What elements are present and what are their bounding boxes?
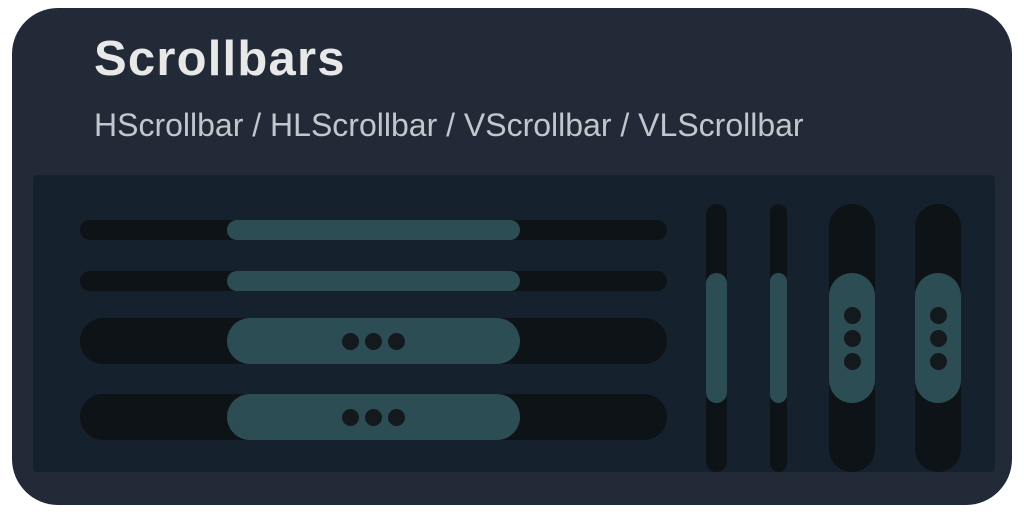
hscrollbar-thin-1[interactable] <box>80 220 667 240</box>
scrollbar-thumb[interactable] <box>829 273 875 403</box>
grip-dot <box>342 409 359 426</box>
grip-dots-icon <box>915 273 961 403</box>
grip-dot <box>365 333 382 350</box>
scrollbar-demo-panel <box>33 175 995 472</box>
scrollbar-thumb[interactable] <box>227 271 520 291</box>
hscrollbar-thick-2[interactable] <box>80 394 667 440</box>
scrollbar-thumb[interactable] <box>770 273 787 403</box>
screenshot-stage: Scrollbars HScrollbar / HLScrollbar / VS… <box>0 0 1024 520</box>
grip-dots-icon <box>227 394 520 440</box>
vscrollbar-thick-1[interactable] <box>829 204 875 472</box>
vscrollbar-thin-1[interactable] <box>706 204 727 472</box>
scrollbar-thumb[interactable] <box>227 394 520 440</box>
hscrollbar-thick-1[interactable] <box>80 318 667 364</box>
grip-dot <box>388 409 405 426</box>
scrollbar-thumb[interactable] <box>227 318 520 364</box>
grip-dot <box>388 333 405 350</box>
vscrollbar-thick-2[interactable] <box>915 204 961 472</box>
grip-dot <box>365 409 382 426</box>
grip-dot <box>930 330 947 347</box>
grip-dot <box>930 307 947 324</box>
card-header: Scrollbars HScrollbar / HLScrollbar / VS… <box>12 8 1012 175</box>
hscrollbar-thin-2[interactable] <box>80 271 667 291</box>
showcase-card: Scrollbars HScrollbar / HLScrollbar / VS… <box>12 8 1012 505</box>
page-title: Scrollbars <box>94 34 346 85</box>
grip-dot <box>930 353 947 370</box>
scrollbar-thumb[interactable] <box>227 220 520 240</box>
grip-dots-icon <box>829 273 875 403</box>
grip-dots-icon <box>227 318 520 364</box>
scrollbar-thumb[interactable] <box>915 273 961 403</box>
page-subtitle: HScrollbar / HLScrollbar / VScrollbar / … <box>94 107 804 144</box>
grip-dot <box>844 330 861 347</box>
grip-dot <box>342 333 359 350</box>
vscrollbar-thin-2[interactable] <box>770 204 787 472</box>
grip-dot <box>844 307 861 324</box>
scrollbar-thumb[interactable] <box>706 273 727 403</box>
grip-dot <box>844 353 861 370</box>
